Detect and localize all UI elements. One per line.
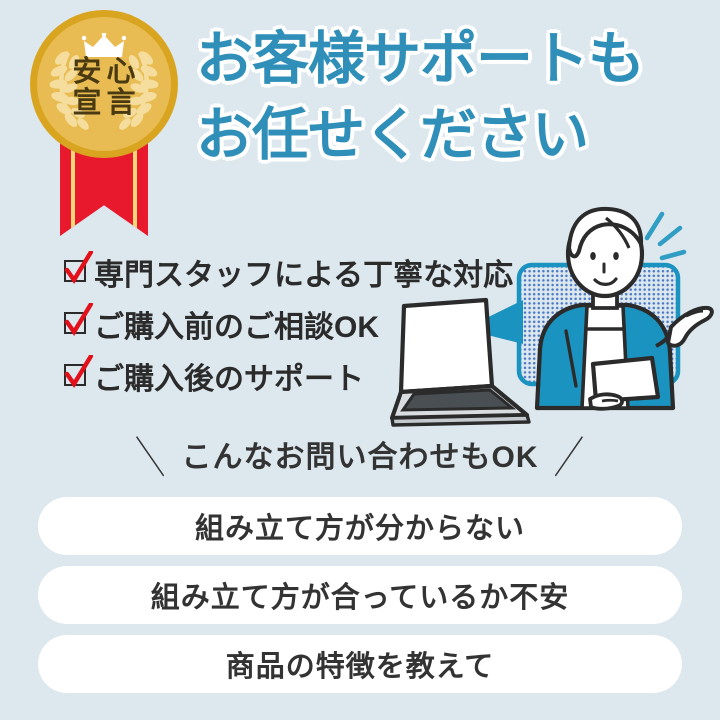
checked-checkbox-icon [64,312,89,337]
question-list: 組み立て方が分からない 組み立て方が合っているか不安 商品の特徴を教えて [38,497,682,704]
checked-checkbox-icon [64,260,89,285]
right-slash-icon: ／ [548,422,591,486]
left-slash-icon: ＼ [129,422,172,486]
question-pill[interactable]: 組み立て方が分からない [38,497,682,555]
question-pill-label: 組み立て方が合っているか不安 [151,574,570,616]
page-title-line-2: お任せください [196,98,706,174]
question-pill-label: 商品の特徴を教えて [226,643,495,685]
page-title-line-1: お客様サポートも [196,22,706,98]
person-icon [537,209,712,409]
section-subtitle-text: こんなお問い合わせもOK [182,441,539,474]
list-item: ご購入後のサポート [64,354,513,398]
badge-line-2: 宣言 [37,88,171,119]
list-item: 専門スタッフによる丁寧な対応 [64,250,513,294]
page-title: お客様サポートも お任せください [196,22,706,174]
question-pill-label: 組み立て方が分からない [195,505,525,547]
checked-checkbox-icon [64,364,89,389]
list-item-label: ご購入後のサポート [94,354,364,398]
medal-outer-ring: 安心 宣言 [30,10,178,158]
list-item-label: ご購入前のご相談OK [94,302,379,346]
list-item: ご購入前のご相談OK [64,302,513,346]
badge-text: 安心 宣言 [37,57,171,118]
medal-face: 安心 宣言 [37,17,171,151]
question-pill[interactable]: 組み立て方が合っているか不安 [38,566,682,624]
section-subtitle: ＼ こんなお問い合わせもOK ／ [0,432,720,476]
feature-checklist: 専門スタッフによる丁寧な対応 ご購入前のご相談OK ご購入後のサポート [64,250,513,406]
question-pill[interactable]: 商品の特徴を教えて [38,635,682,693]
badge-line-1: 安心 [37,57,171,88]
list-item-label: 専門スタッフによる丁寧な対応 [94,250,513,294]
promo-banner: 安心 宣言 お客様サポートも お任せください 専門スタッフによる丁寧な対応 [0,0,720,720]
assurance-badge: 安心 宣言 [28,8,180,238]
sparkle-lines-icon [647,214,684,258]
